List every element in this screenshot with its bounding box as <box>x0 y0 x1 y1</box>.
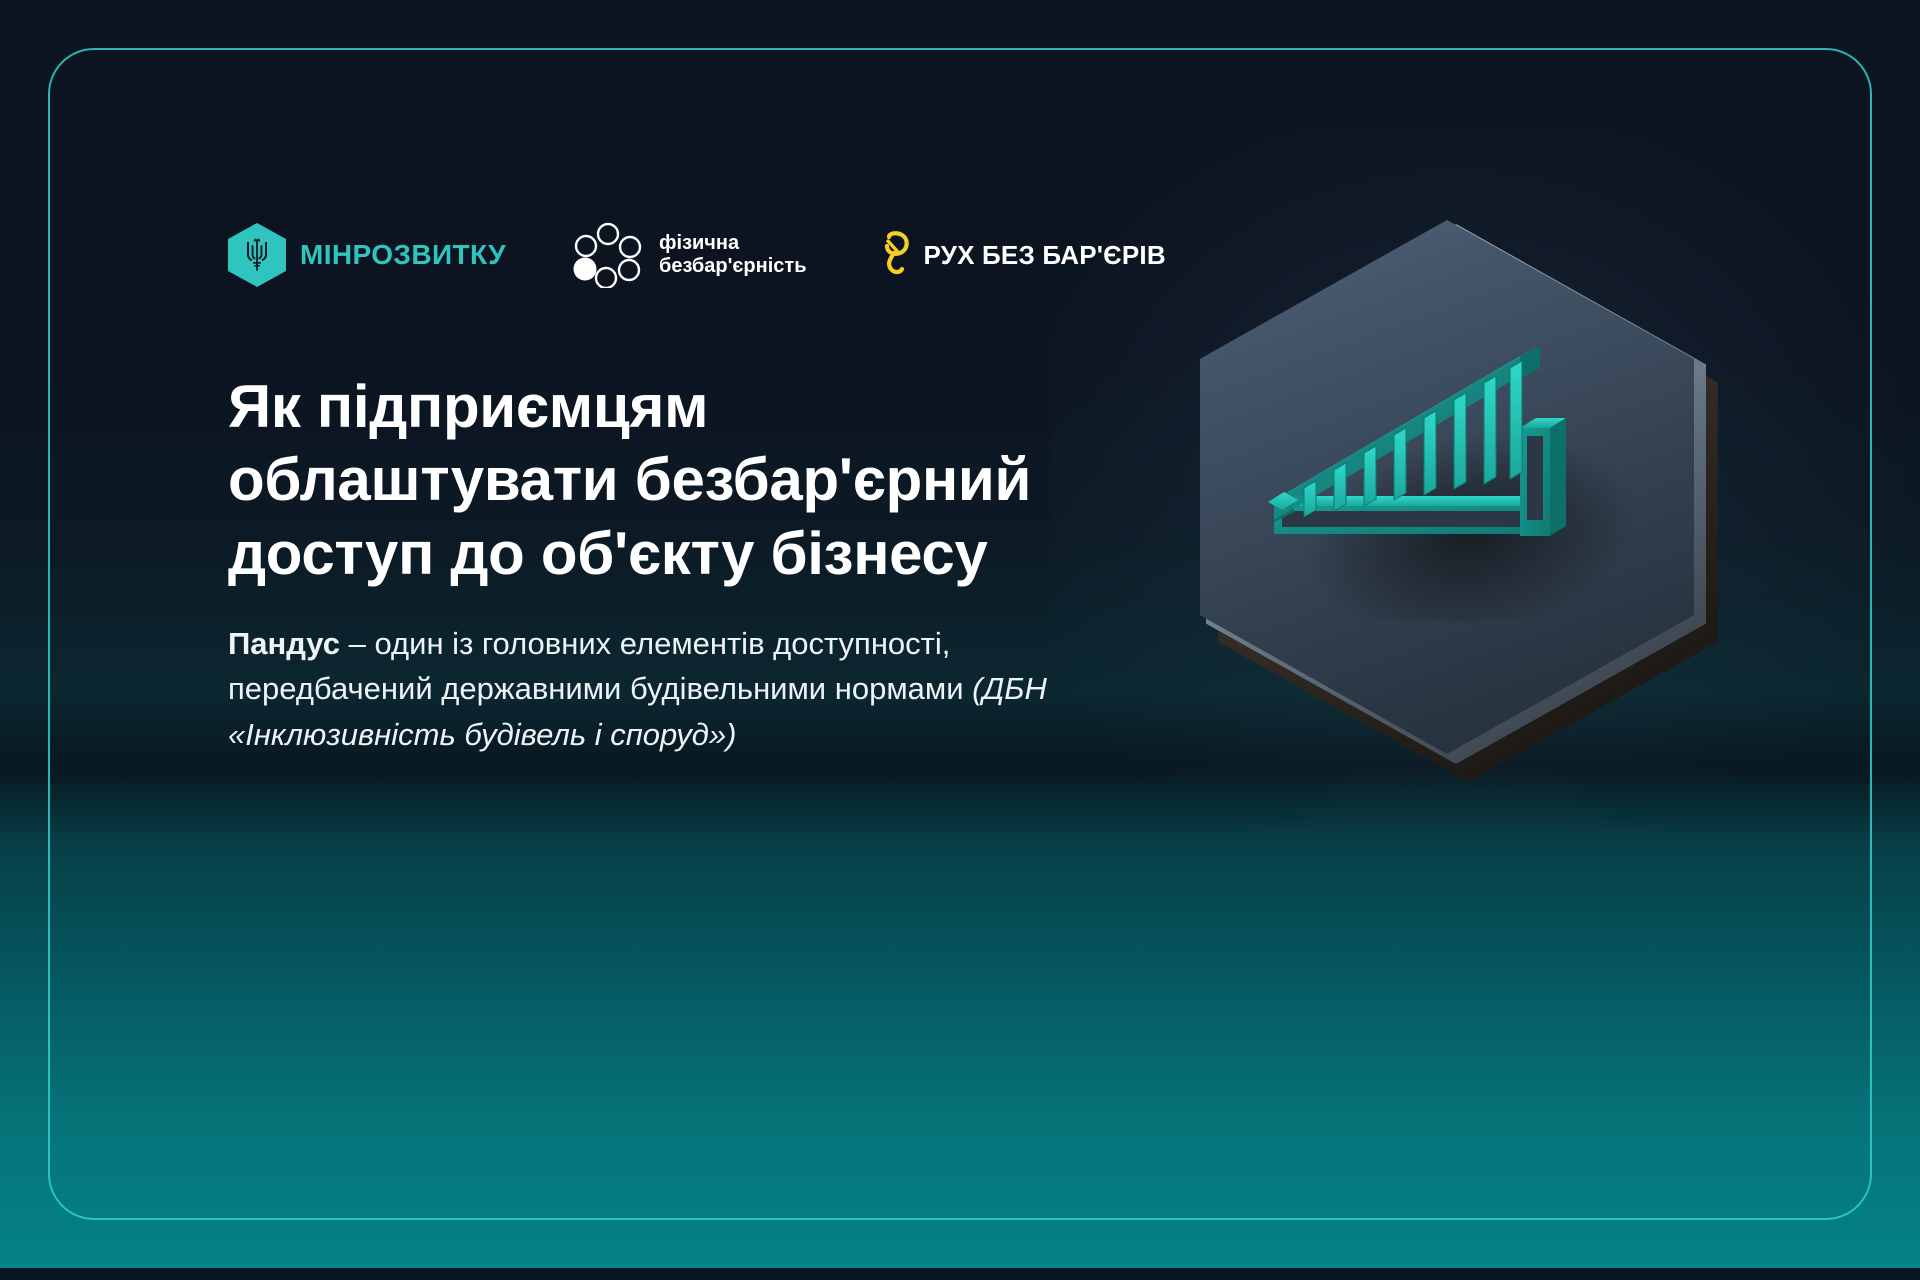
barrier-free-movement-icon <box>881 231 915 279</box>
subtitle-lead: Пандус <box>228 626 340 661</box>
logo-fizychna-bezbariernist[interactable]: фізична безбар'єрність <box>572 222 806 288</box>
logo-rukh-bez-baririv[interactable]: РУХ БЕЗ БАР'ЄРІВ <box>881 231 1166 279</box>
logo-fizychna-label-line1: фізична <box>659 232 739 254</box>
circles-cluster-icon <box>572 222 646 288</box>
ukraine-trident-hexagon-icon <box>228 223 286 287</box>
logo-rukh-label: РУХ БЕЗ БАР'ЄРІВ <box>924 240 1166 271</box>
headline-line-1: Як підприємцям <box>228 373 708 440</box>
page-title: Як підприємцям облаштувати безбар'єрний … <box>228 370 1108 590</box>
logo-fizychna-label: фізична безбар'єрність <box>659 232 806 278</box>
ramp-hexagon-badge <box>1190 190 1830 810</box>
subtitle-body: – один із головних елементів доступності… <box>228 626 972 706</box>
bottom-band <box>0 1268 1920 1280</box>
logo-fizychna-label-line2: безбар'єрність <box>659 255 806 277</box>
headline-line-3: доступ до об'єкту бізнесу <box>228 520 988 587</box>
logo-row: МІНРОЗВИТКУ фізична безба <box>228 222 1166 288</box>
logo-minrozvytku-label: МІНРОЗВИТКУ <box>300 239 506 271</box>
wheelchair-ramp-icon <box>1268 310 1648 610</box>
headline-line-2: облаштувати безбар'єрний <box>228 446 1031 513</box>
page-subtitle: Пандус – один із головних елементів дост… <box>228 621 1058 757</box>
slide-root: МІНРОЗВИТКУ фізична безба <box>0 0 1920 1280</box>
logo-minrozvytku[interactable]: МІНРОЗВИТКУ <box>228 223 506 287</box>
